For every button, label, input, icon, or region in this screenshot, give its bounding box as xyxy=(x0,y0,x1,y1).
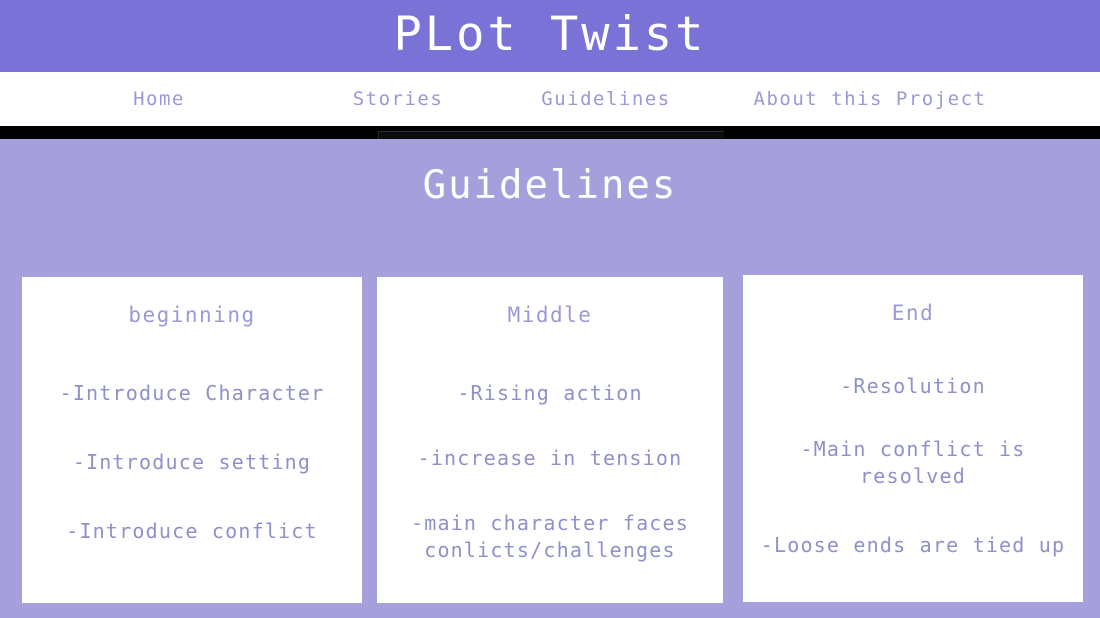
main-navigation: Home Stories Guidelines About this Proje… xyxy=(0,72,1100,126)
card-title: End xyxy=(743,301,1083,326)
card-point: -Main conflict is resolved xyxy=(743,436,1083,490)
card-point: -main character faces conlicts/challenge… xyxy=(377,510,723,564)
card-point: -Introduce Character xyxy=(22,380,362,407)
guidelines-cards: beginning -Introduce Character -Introduc… xyxy=(0,275,1100,615)
card-point: -Introduce setting xyxy=(22,449,362,476)
main-content: Guidelines beginning -Introduce Characte… xyxy=(0,139,1100,618)
card-point: -Resolution xyxy=(743,373,1083,400)
nav-link-home[interactable]: Home xyxy=(133,88,185,110)
nav-link-guidelines[interactable]: Guidelines xyxy=(541,88,670,110)
nav-list: Home Stories Guidelines About this Proje… xyxy=(0,88,1100,110)
card-point: -Introduce conflict xyxy=(22,518,362,545)
nav-item-home: Home xyxy=(14,88,304,110)
nav-underline-bar-segment xyxy=(378,131,724,139)
card-point-list: -Introduce Character -Introduce setting … xyxy=(22,380,362,545)
nav-item-guidelines: Guidelines xyxy=(492,88,720,110)
guideline-card-beginning: beginning -Introduce Character -Introduc… xyxy=(22,277,362,603)
guideline-card-end: End -Resolution -Main conflict is resolv… xyxy=(743,275,1083,602)
card-title: Middle xyxy=(377,303,723,328)
nav-link-about-this-project[interactable]: About this Project xyxy=(754,88,987,110)
card-point: -Loose ends are tied up xyxy=(743,532,1083,559)
site-title: PLot Twist xyxy=(394,11,707,62)
card-point-list: -Resolution -Main conflict is resolved -… xyxy=(743,373,1083,559)
page-title: Guidelines xyxy=(0,139,1100,205)
guideline-card-middle: Middle -Rising action -increase in tensi… xyxy=(377,277,723,603)
card-point: -increase in tension xyxy=(377,445,723,472)
nav-underline-bar xyxy=(0,126,1100,139)
nav-item-stories: Stories xyxy=(304,88,492,110)
card-point: -Rising action xyxy=(377,380,723,407)
card-title: beginning xyxy=(22,303,362,328)
nav-item-about-this-project: About this Project xyxy=(720,88,1020,110)
site-banner: PLot Twist xyxy=(0,0,1100,72)
card-point-list: -Rising action -increase in tension -mai… xyxy=(377,380,723,564)
nav-link-stories[interactable]: Stories xyxy=(353,88,444,110)
